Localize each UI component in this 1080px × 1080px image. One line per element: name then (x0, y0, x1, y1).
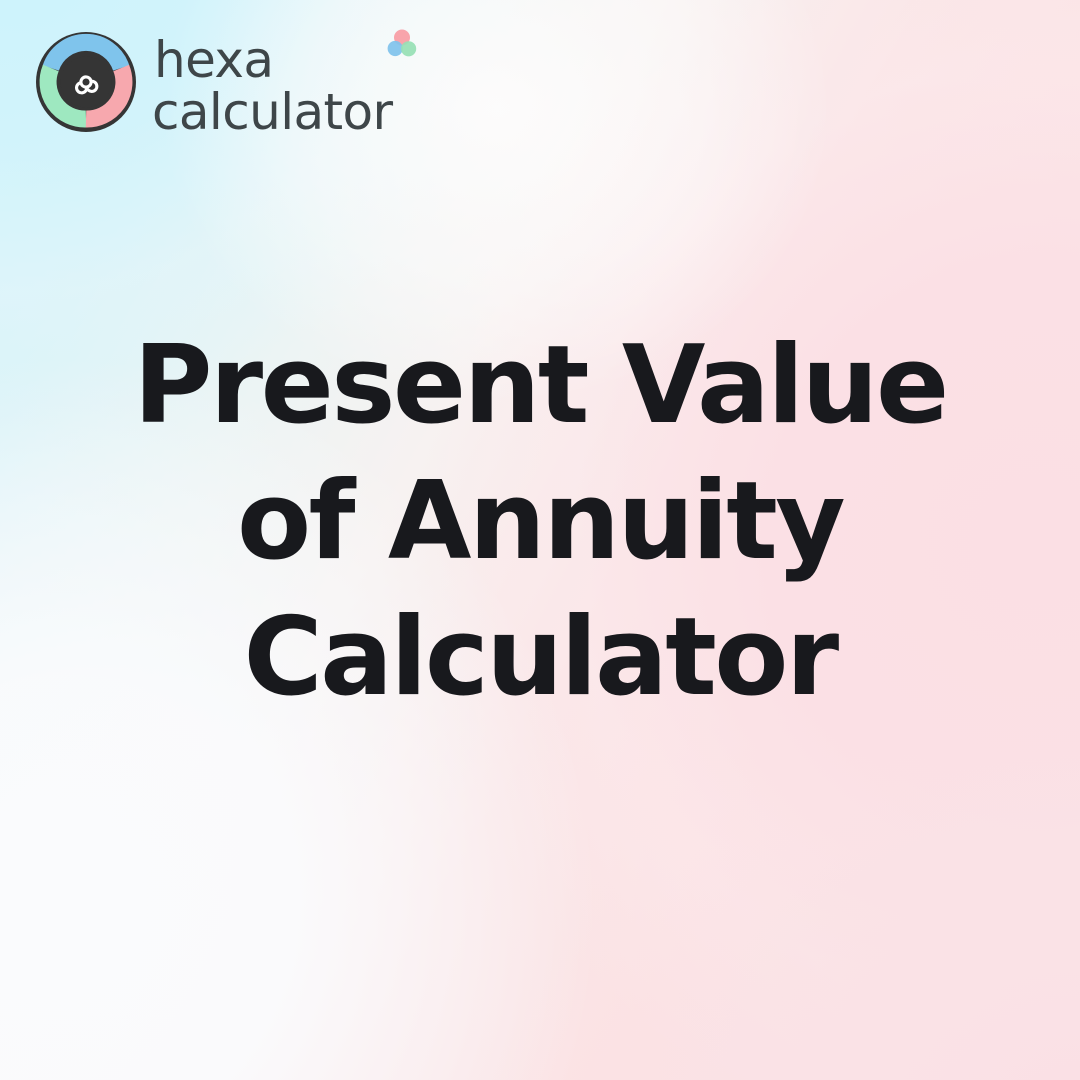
brand-wordmark: hexa calculator (152, 30, 393, 138)
hexa-calculator-logo-icon (34, 30, 138, 134)
promo-card: hexa calculator Present Value of Annuity… (0, 0, 1080, 1080)
page-title: Present Value of Annuity Calculator (0, 318, 1080, 726)
brand-wordmark-line-hexa: hexa (152, 34, 393, 86)
page-title-line-2: of Annuity (60, 454, 1020, 590)
page-title-line-1: Present Value (60, 318, 1020, 454)
brand-logo[interactable]: hexa calculator (34, 30, 393, 138)
brand-dots-icon (385, 28, 419, 62)
page-title-line-3: Calculator (60, 590, 1020, 726)
brand-wordmark-line-calculator: calculator (152, 86, 393, 138)
